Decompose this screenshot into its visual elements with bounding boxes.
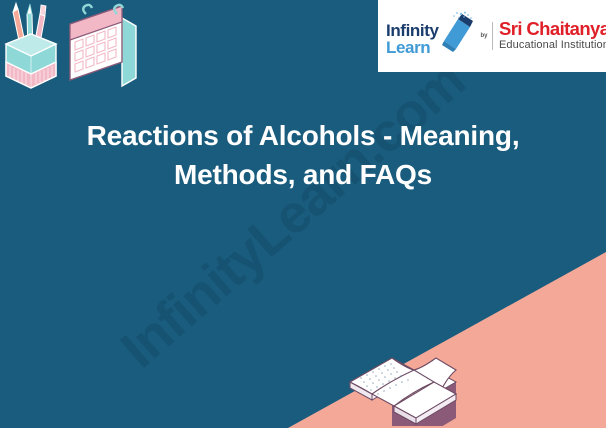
brand-name: Sri Chaitanya <box>499 20 606 39</box>
vertical-divider <box>492 22 493 50</box>
brand-logo-card[interactable]: Infinity Learn by Sri Chaitanya Educatio… <box>378 0 606 72</box>
thumbnail-card: InfinityLearn.com Reactions of Alcohols … <box>0 0 606 428</box>
watermark-text: InfinityLearn.com <box>109 58 467 380</box>
desk-calendar-illustration <box>66 0 140 92</box>
open-book-illustration <box>348 338 480 426</box>
by-label: by <box>480 33 487 39</box>
infinity-word: Infinity <box>386 22 439 39</box>
pencil-holder-illustration <box>0 0 62 92</box>
by-separator: by <box>474 16 494 56</box>
sri-chaitanya-logo[interactable]: Sri Chaitanya Educational Institutions <box>494 20 606 52</box>
infinity-learn-logo[interactable]: Infinity Learn <box>386 9 474 63</box>
learn-word: Learn <box>386 39 430 56</box>
brand-subtitle: Educational Institutions <box>499 39 606 52</box>
infinity-learn-arrow-mark <box>440 11 476 53</box>
page-title: Reactions of Alcohols - Meaning, Methods… <box>30 117 576 194</box>
